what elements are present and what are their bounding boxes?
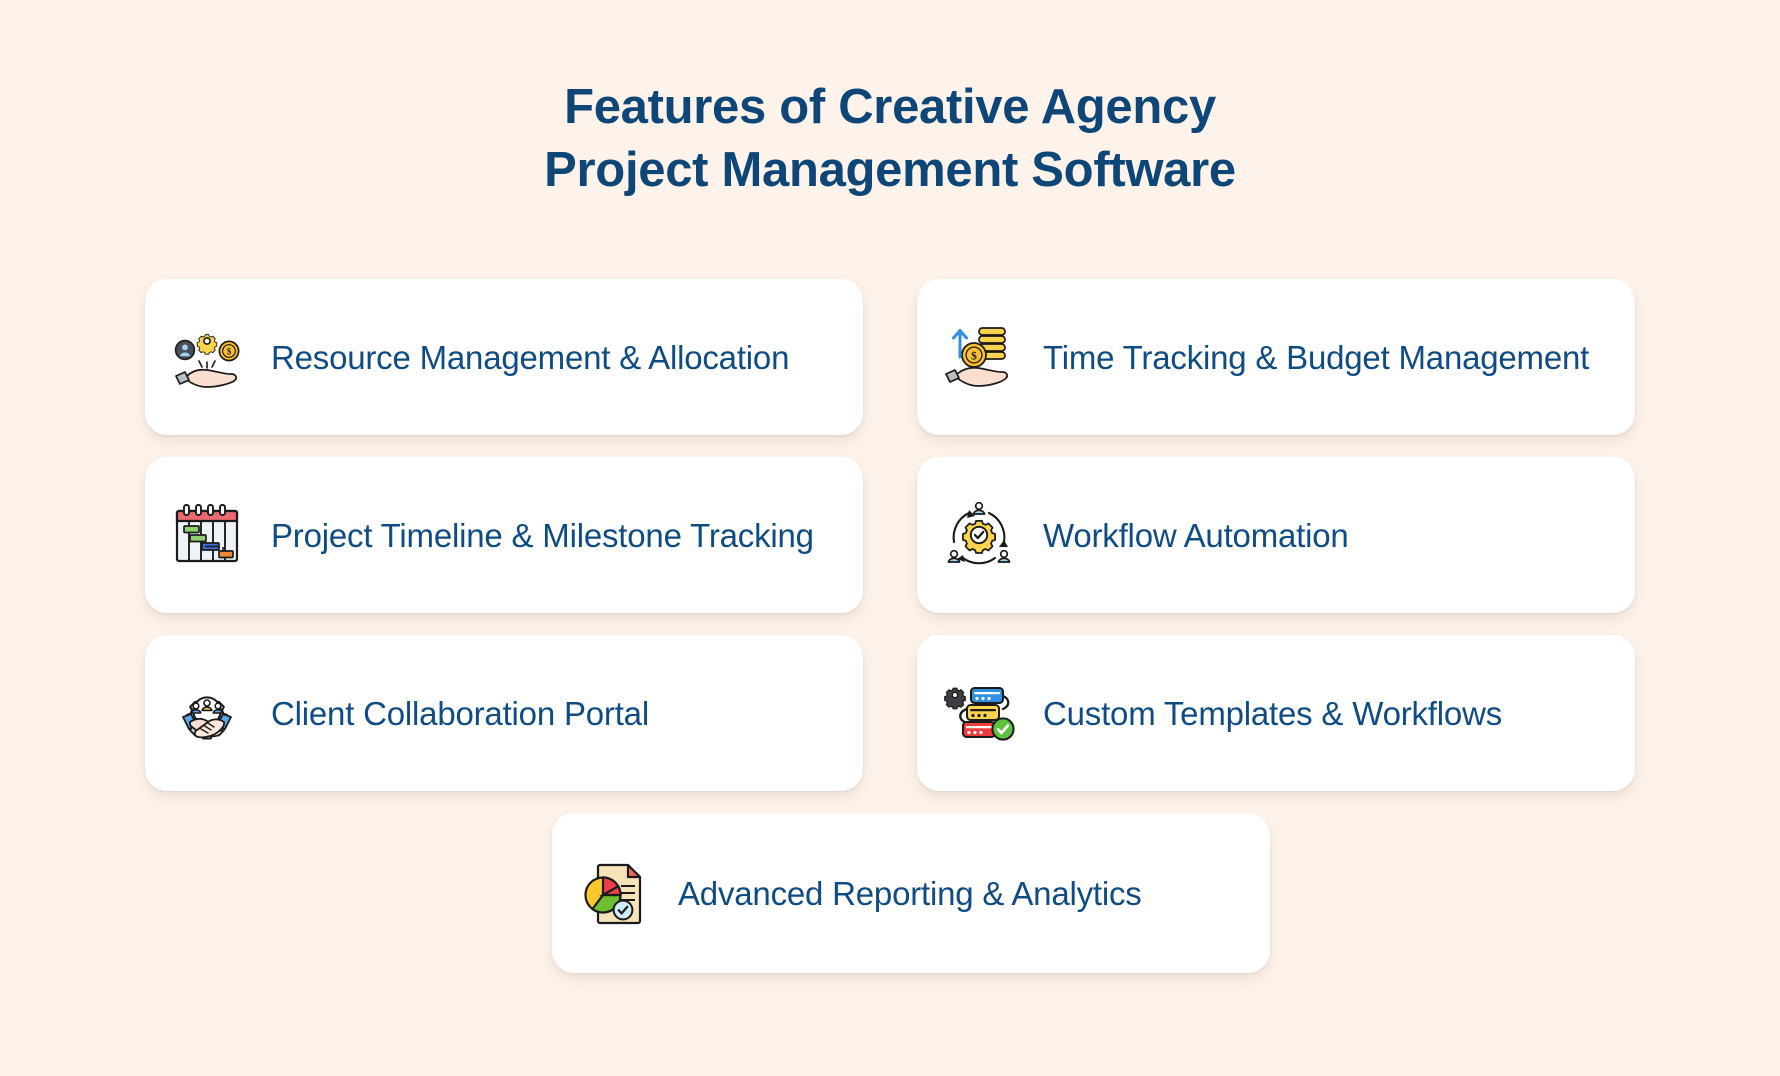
svg-text:$: $ (971, 350, 977, 363)
workflow-blocks-check-icon (941, 675, 1017, 751)
gantt-chart-calendar-icon (169, 497, 245, 573)
feature-row-4: Advanced Reporting & Analytics (145, 813, 1635, 973)
feature-card-time-tracking[interactable]: $ Time Tracking & Bud (917, 279, 1635, 435)
feature-card-client-portal[interactable]: Client Collaboration Portal (145, 635, 863, 791)
feature-card-advanced-reporting[interactable]: Advanced Reporting & Analytics (552, 813, 1270, 973)
infographic-page: Features of Creative Agency Project Mana… (0, 0, 1780, 1076)
document-pie-chart-check-icon (576, 855, 652, 931)
feature-label: Client Collaboration Portal (271, 692, 649, 736)
hand-holding-resources-icon: $ (169, 319, 245, 395)
hand-holding-coins-growth-icon: $ (941, 319, 1017, 395)
handshake-gear-team-icon (169, 675, 245, 751)
gear-check-users-cycle-icon (941, 497, 1017, 573)
feature-card-workflow-automation[interactable]: Workflow Automation (917, 457, 1635, 613)
page-title-line-1: Features of Creative Agency (0, 76, 1780, 139)
feature-label: Project Timeline & Milestone Tracking (271, 514, 814, 558)
feature-label: Advanced Reporting & Analytics (678, 872, 1142, 916)
feature-label: Resource Management & Allocation (271, 336, 789, 380)
feature-label: Time Tracking & Budget Management (1043, 336, 1589, 380)
feature-label: Custom Templates & Workflows (1043, 692, 1502, 736)
feature-card-project-timeline[interactable]: Project Timeline & Milestone Tracking (145, 457, 863, 613)
feature-row-3: Client Collaboration Portal (145, 635, 1635, 791)
page-title: Features of Creative Agency Project Mana… (0, 76, 1780, 201)
feature-card-grid: $ Reso (0, 279, 1780, 973)
feature-card-resource-management[interactable]: $ Reso (145, 279, 863, 435)
feature-label: Workflow Automation (1043, 514, 1349, 558)
page-title-line-2: Project Management Software (0, 139, 1780, 202)
feature-row-2: Project Timeline & Milestone Tracking (145, 457, 1635, 613)
svg-text:$: $ (227, 347, 232, 357)
feature-card-custom-templates[interactable]: Custom Templates & Workflows (917, 635, 1635, 791)
feature-row-1: $ Reso (145, 279, 1635, 435)
